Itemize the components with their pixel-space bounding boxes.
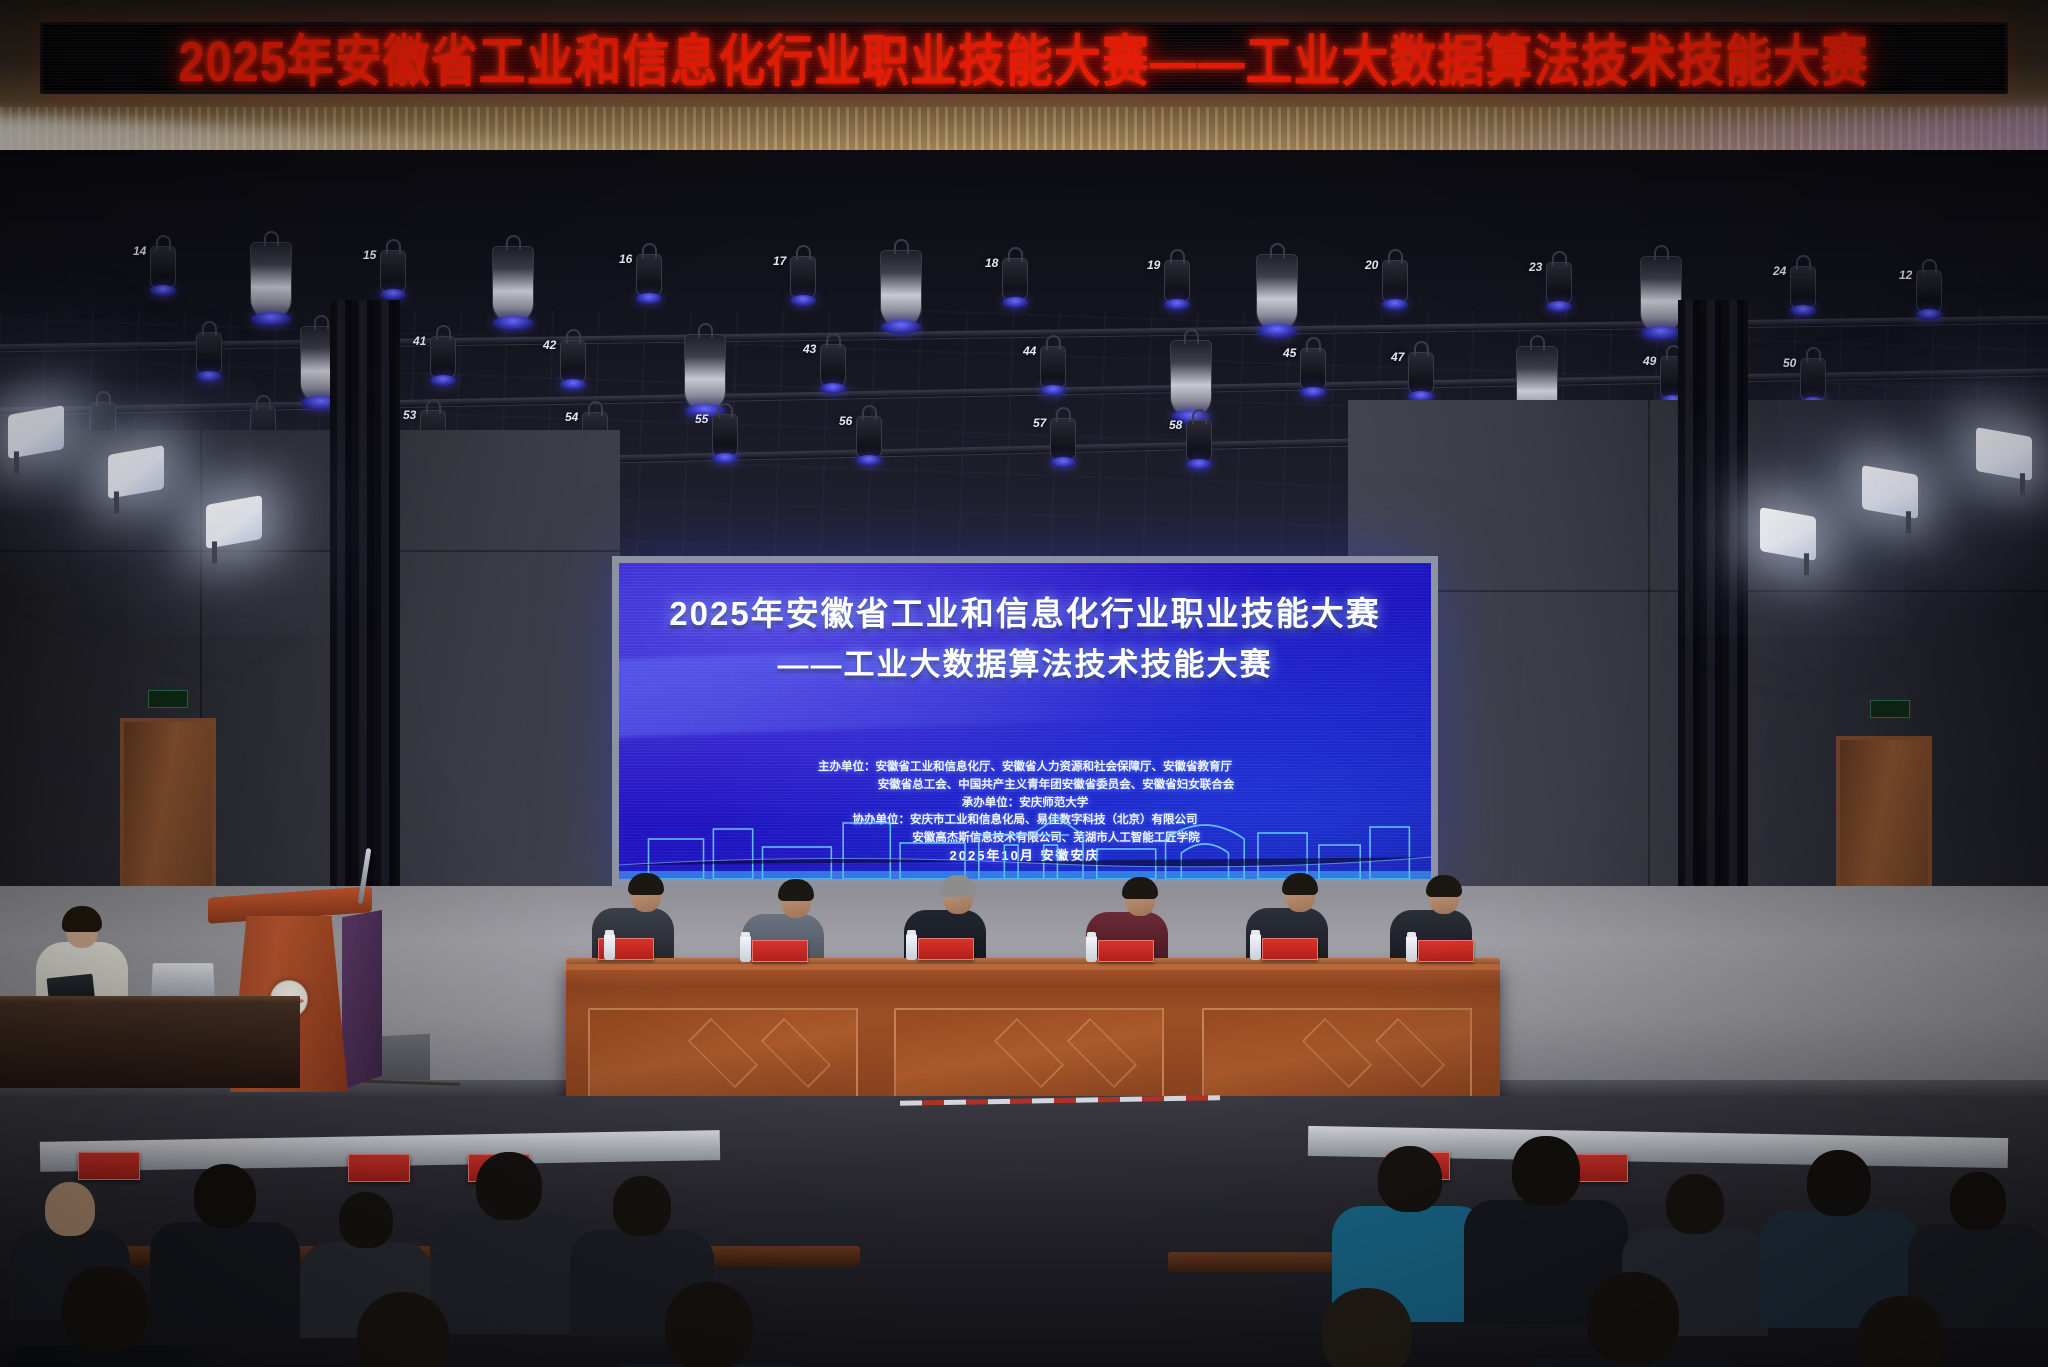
- audience-placard: [348, 1154, 410, 1182]
- lamp-number: 18: [985, 256, 998, 270]
- stage-lamp: 55: [712, 414, 738, 458]
- stage-lamp: 58: [1186, 420, 1212, 464]
- audience-person: [1794, 1296, 2008, 1367]
- main-led-screen: 2025年安徽省工业和信息化行业职业技能大赛 ——工业大数据算法技术技能大赛 主…: [612, 556, 1438, 886]
- person-hair: [1122, 877, 1158, 899]
- audience-person: [290, 1292, 516, 1367]
- credit-label: 主办单位：: [818, 759, 876, 777]
- side-door-left[interactable]: [120, 718, 216, 908]
- table-name-card: [1262, 938, 1318, 960]
- table-name-card: [918, 938, 974, 960]
- operator-laptop[interactable]: [151, 963, 215, 998]
- exit-sign-left: [148, 690, 188, 708]
- wall-seam: [0, 550, 620, 552]
- credit-row: 主办单位：安徽省工业和信息化厅、安徽省人力资源和社会保障厅、安徽省教育厅: [619, 759, 1431, 777]
- lamp-number: 57: [1033, 416, 1046, 430]
- person-hair: [778, 879, 814, 901]
- stage-lamp: 18: [1002, 258, 1028, 302]
- stage-lamp: 15: [380, 250, 406, 294]
- stage-lamp: [1170, 340, 1212, 418]
- audience-person: [1518, 1272, 1748, 1367]
- table-name-card: [1098, 940, 1154, 962]
- lamp-number: 47: [1391, 350, 1404, 364]
- table-panel: [1202, 1008, 1472, 1098]
- water-bottle: [1086, 936, 1097, 962]
- operator-head: [66, 912, 98, 948]
- lamp-number: 44: [1023, 344, 1036, 358]
- audience-person: [1256, 1288, 1478, 1367]
- stage-lamp: 17: [790, 256, 816, 300]
- screen-title: 2025年安徽省工业和信息化行业职业技能大赛: [619, 587, 1431, 635]
- person-hair: [1426, 875, 1462, 897]
- lamp-number: 24: [1773, 264, 1786, 278]
- person-head: [1125, 882, 1155, 916]
- led-banner-text: 2025年安徽省工业和信息化行业职业技能大赛——工业大数据算法技术技能大赛: [179, 22, 1869, 94]
- stage-lamp: 24: [1790, 266, 1816, 310]
- table-name-card: [752, 940, 808, 962]
- skyline-graphic: [619, 805, 1431, 879]
- stage-lamp: 41: [430, 336, 456, 380]
- stage-lamp: [880, 250, 922, 328]
- credit-row: 安徽省总工会、中国共产主义青年团安徽省委员会、安徽省妇女联合会: [619, 777, 1431, 795]
- stage-lamp: 16: [636, 254, 662, 298]
- lamp-number: 45: [1283, 346, 1296, 360]
- table-panel: [588, 1008, 858, 1098]
- lamp-number: 58: [1169, 418, 1182, 432]
- credit-line: 安徽省工业和信息化厅、安徽省人力资源和社会保障厅、安徽省教育厅: [876, 761, 1233, 773]
- lamp-number: 20: [1365, 258, 1378, 272]
- stage-lamp: 56: [856, 416, 882, 460]
- stage-lamp: 50: [1800, 358, 1826, 402]
- water-bottle: [604, 934, 615, 960]
- stage-lamp: [1640, 256, 1682, 334]
- stage-lamp: 57: [1050, 418, 1076, 462]
- lamp-number: 14: [133, 244, 146, 258]
- person-head: [631, 878, 661, 912]
- lamp-number: 16: [619, 252, 632, 266]
- stage-lamp: 14: [150, 246, 176, 290]
- stage-lamp: [492, 246, 534, 324]
- lamp-number: 19: [1147, 258, 1160, 272]
- exit-sign-right: [1870, 700, 1910, 718]
- credit-line: 安徽省总工会、中国共产主义青年团安徽省委员会、安徽省妇女联合会: [878, 779, 1235, 791]
- audience-person: [0, 1266, 210, 1367]
- stage-lamp: 23: [1546, 262, 1572, 306]
- stage-lamp: [250, 242, 292, 320]
- stage-lamp: 42: [560, 340, 586, 384]
- stage-lamp: 19: [1164, 260, 1190, 304]
- stage-lamp: 45: [1300, 348, 1326, 392]
- stage-lamp: 20: [1382, 260, 1408, 304]
- person-hair: [940, 875, 976, 897]
- table-panel: [894, 1008, 1164, 1098]
- person-head: [1285, 878, 1315, 912]
- stage-lamp: [1256, 254, 1298, 332]
- lamp-number: 56: [839, 414, 852, 428]
- lamp-number: 55: [695, 412, 708, 426]
- table-name-card: [1418, 940, 1474, 962]
- podium-side-panel: [342, 910, 382, 1090]
- audience-area: [0, 1096, 2048, 1367]
- lamp-number: 50: [1783, 356, 1796, 370]
- water-bottle: [1406, 936, 1417, 962]
- water-bottle: [740, 936, 751, 962]
- lamp-number: 41: [413, 334, 426, 348]
- lamp-number: 42: [543, 338, 556, 352]
- lamp-number: 43: [803, 342, 816, 356]
- stage-lamp: 43: [820, 344, 846, 388]
- lamp-number: 49: [1643, 354, 1656, 368]
- lamp-number: 23: [1529, 260, 1542, 274]
- head-table: [566, 964, 1500, 1112]
- stage-lamp: 12: [1916, 270, 1942, 314]
- water-bottle: [906, 934, 917, 960]
- person-hair: [628, 873, 664, 895]
- tech-desk: [0, 1002, 300, 1088]
- lamp-number: 54: [565, 410, 578, 424]
- stage-lamp: [196, 332, 222, 376]
- lamp-number: 17: [773, 254, 786, 268]
- audience-placard: [78, 1152, 140, 1180]
- stage-lamp: 47: [1408, 352, 1434, 396]
- person-hair: [1282, 873, 1318, 895]
- person-head: [781, 884, 811, 918]
- auditorium-scene: 2025年安徽省工业和信息化行业职业技能大赛——工业大数据算法技术技能大赛 14…: [0, 0, 2048, 1367]
- water-bottle: [1250, 934, 1261, 960]
- audience-person: [600, 1282, 818, 1367]
- lamp-number: 12: [1899, 268, 1912, 282]
- screen-subtitle: ——工业大数据算法技术技能大赛: [619, 639, 1431, 684]
- stage-lamp: [684, 334, 726, 412]
- stage-lamp: 44: [1040, 346, 1066, 390]
- person-head: [1429, 880, 1459, 914]
- lamp-number: 15: [363, 248, 376, 262]
- person-head: [943, 880, 973, 914]
- lamp-number: 53: [403, 408, 416, 422]
- led-marquee-banner: 2025年安徽省工业和信息化行业职业技能大赛——工业大数据算法技术技能大赛: [40, 22, 2008, 94]
